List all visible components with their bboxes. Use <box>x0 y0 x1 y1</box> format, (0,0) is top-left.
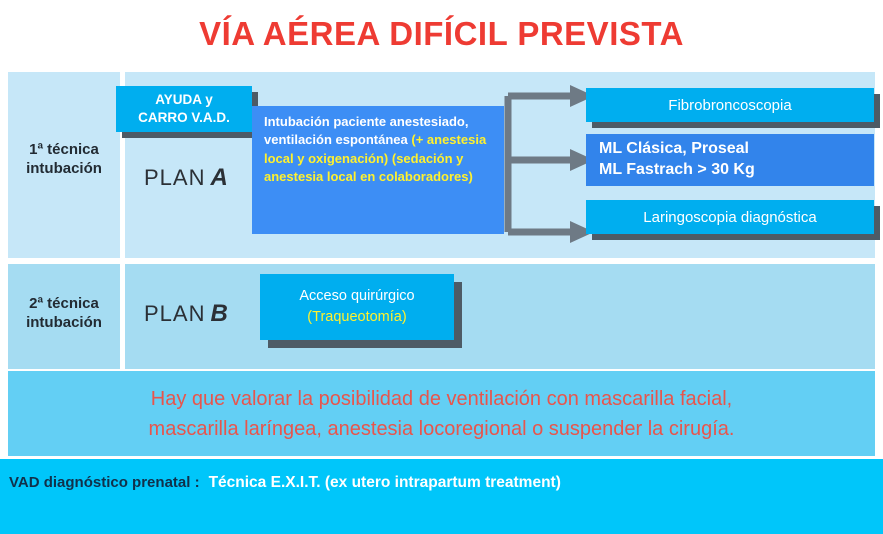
algorithm-panel: 1ª técnica intubación 2ª técnica intubac… <box>8 72 875 369</box>
stage-label-1-line1: 1ª técnica <box>8 140 120 159</box>
footer-value: Técnica E.X.I.T. (ex utero intrapartum t… <box>209 474 561 492</box>
plan-b-word: PLAN <box>144 301 205 326</box>
box-ml-line2: ML Fastrach > 30 Kg <box>599 160 755 181</box>
warning-band: Hay que valorar la posibilidad de ventil… <box>8 371 875 456</box>
box-acceso-quirurgico[interactable]: Acceso quirúrgico (Traqueotomía) <box>260 274 454 340</box>
box-mascarilla-laringea[interactable]: ML Clásica, Proseal ML Fastrach > 30 Kg <box>586 134 874 186</box>
footer-label: VAD diagnóstico prenatal : <box>9 474 200 491</box>
plan-a-letter: A <box>210 164 227 191</box>
box-ayuda-carro-vad[interactable]: AYUDA y CARRO V.A.D. <box>116 86 252 132</box>
plan-b-letter: B <box>210 300 227 327</box>
box-fibrobroncoscopia[interactable]: Fibrobroncoscopia <box>586 88 874 122</box>
plan-a-word: PLAN <box>144 165 205 190</box>
box-ml-line1: ML Clásica, Proseal <box>599 139 749 160</box>
box-intubacion-paciente[interactable]: Intubación paciente anestesiado, ventila… <box>252 106 504 234</box>
plan-a-label: PLANA <box>144 164 228 192</box>
plan-b-label: PLANB <box>144 300 228 328</box>
box-laringoscopia-diagnostica[interactable]: Laringoscopia diagnóstica <box>586 200 874 234</box>
box-acceso-white-text: Acceso quirúrgico <box>299 286 414 307</box>
stage-label-1-line2: intubación <box>8 159 120 178</box>
box-laringoscopia-label: Laringoscopia diagnóstica <box>643 209 816 226</box>
box-fibrobroncoscopia-label: Fibrobroncoscopia <box>668 97 791 114</box>
arrow-connector-group <box>504 82 594 242</box>
title-bar: VÍA AÉREA DIFÍCIL PREVISTA <box>0 0 883 68</box>
warning-line-2: mascarilla laríngea, anestesia locoregio… <box>149 414 735 444</box>
box-acceso-yellow-text: (Traqueotomía) <box>307 307 406 328</box>
box-ayuda-line1: AYUDA y <box>155 91 213 109</box>
footer-bar: VAD diagnóstico prenatal : Técnica E.X.I… <box>0 459 883 534</box>
box-intubacion-text: Intubación paciente anestesiado, ventila… <box>264 113 504 187</box>
stage-label-2-line1: 2ª técnica <box>8 294 120 313</box>
warning-line-1: Hay que valorar la posibilidad de ventil… <box>151 384 732 414</box>
stage-label-2-line2: intubación <box>8 313 120 332</box>
stage-label-2: 2ª técnica intubación <box>8 294 120 332</box>
stage-label-1: 1ª técnica intubación <box>8 140 120 178</box>
box-ayuda-line2: CARRO V.A.D. <box>138 109 230 127</box>
page-title: VÍA AÉREA DIFÍCIL PREVISTA <box>199 15 684 53</box>
